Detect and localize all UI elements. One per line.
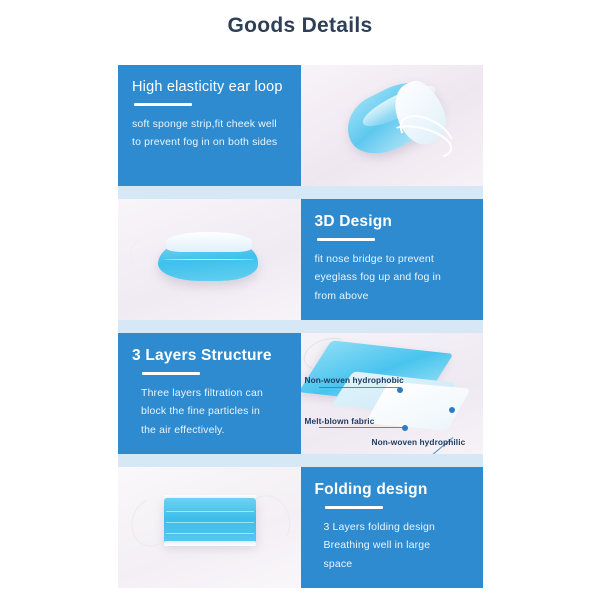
goods-details-infographic: Goods Details High elasticity ear loop s…: [0, 0, 600, 600]
mask-nose-bridge-shape: [166, 232, 252, 252]
mask-pleat-shape: [166, 533, 254, 534]
feature-panel-3d-design: 3D Design fit nose bridge to prevent eye…: [301, 199, 484, 320]
leader-line: [319, 387, 399, 388]
panel-body-line: soft sponge strip,fit cheek well: [132, 115, 287, 133]
layer-marker-dot: [402, 425, 408, 431]
layers-diagram-photo: Non-woven hydrophobic Melt-blown fabric …: [301, 333, 484, 454]
panel-heading: 3D Design: [315, 213, 470, 231]
panel-body-line: block the fine particles in: [141, 402, 287, 420]
panel-body-line: eyeglass fog up and fog in: [315, 268, 470, 286]
mask-pleat-shape: [166, 511, 254, 512]
panel-body: Three layers filtration can block the fi…: [132, 384, 287, 439]
detail-row: Folding design 3 Layers folding design B…: [118, 467, 483, 588]
feature-panel-layers: 3 Layers Structure Three layers filtrati…: [118, 333, 301, 454]
layer-label-hydrophilic: Non-woven hydrophilic: [372, 437, 466, 447]
flat-mask-photo: [118, 467, 301, 588]
panel-body-line: Three layers filtration can: [141, 384, 287, 402]
panel-divider: [325, 506, 383, 509]
detail-row: 3 Layers Structure Three layers filtrati…: [118, 333, 483, 454]
panel-body-line: 3 Layers folding design: [324, 518, 470, 536]
panel-body-line: from above: [315, 287, 470, 305]
mask-body-shape: [164, 498, 256, 544]
panel-heading: High elasticity ear loop: [132, 79, 287, 96]
panel-body: fit nose bridge to prevent eyeglass fog …: [315, 250, 470, 305]
row-divider: [118, 454, 483, 467]
row-divider: [118, 186, 483, 199]
three-d-mask-photo: [118, 199, 301, 320]
layer-marker-dot: [397, 387, 403, 393]
feature-panel-ear-loop: High elasticity ear loop soft sponge str…: [118, 65, 301, 186]
panel-body-line: to prevent fog in on both sides: [132, 133, 287, 151]
page-title: Goods Details: [0, 14, 600, 38]
layer-label-melt-blown: Melt-blown fabric: [305, 416, 375, 426]
layer-marker-dot: [449, 407, 455, 413]
mask-pleat-shape: [164, 259, 254, 260]
folded-mask-photo: [301, 65, 484, 186]
panel-body-line: space: [324, 555, 470, 573]
mask-bottom-edge-shape: [164, 541, 256, 546]
panel-body: 3 Layers folding design Breathing well i…: [315, 518, 470, 573]
panel-body-line: fit nose bridge to prevent: [315, 250, 470, 268]
mask-pleat-shape: [166, 522, 254, 523]
panel-heading: Folding design: [315, 481, 470, 499]
panel-divider: [142, 372, 200, 375]
panel-divider: [134, 103, 192, 106]
detail-row: High elasticity ear loop soft sponge str…: [118, 65, 483, 186]
detail-row: 3D Design fit nose bridge to prevent eye…: [118, 199, 483, 320]
panel-body-line: Breathing well in large: [324, 536, 470, 554]
panel-heading: 3 Layers Structure: [132, 347, 287, 365]
leader-line: [319, 427, 404, 428]
panel-body: soft sponge strip,fit cheek well to prev…: [132, 115, 287, 152]
panel-body-line: the air effectively.: [141, 421, 287, 439]
feature-panel-folding-design: Folding design 3 Layers folding design B…: [301, 467, 484, 588]
panel-divider: [317, 238, 375, 241]
layer-label-hydrophobic: Non-woven hydrophobic: [305, 375, 404, 385]
row-divider: [118, 320, 483, 333]
details-content-block: High elasticity ear loop soft sponge str…: [118, 65, 483, 587]
